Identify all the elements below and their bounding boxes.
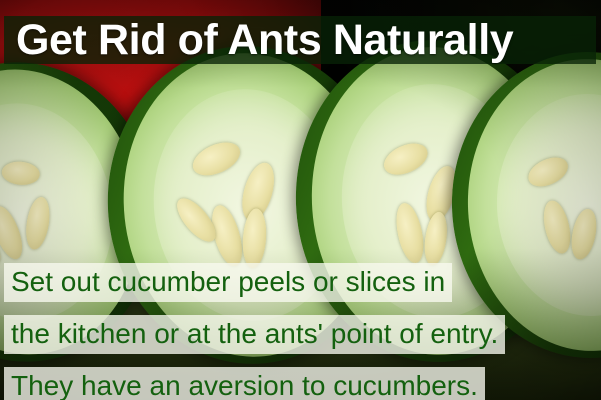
caption-block: Set out cucumber peels or slices in the … bbox=[4, 263, 505, 400]
headline-band: Get Rid of Ants Naturally bbox=[4, 16, 596, 64]
ant-remedy-poster: Get Rid of Ants Naturally Set out cucumb… bbox=[0, 0, 601, 400]
caption-line-1: Set out cucumber peels or slices in bbox=[4, 263, 452, 302]
page-title: Get Rid of Ants Naturally bbox=[4, 19, 513, 62]
caption-line-2: the kitchen or at the ants' point of ent… bbox=[4, 315, 505, 354]
caption-line-3: They have an aversion to cucumbers. bbox=[4, 367, 485, 400]
